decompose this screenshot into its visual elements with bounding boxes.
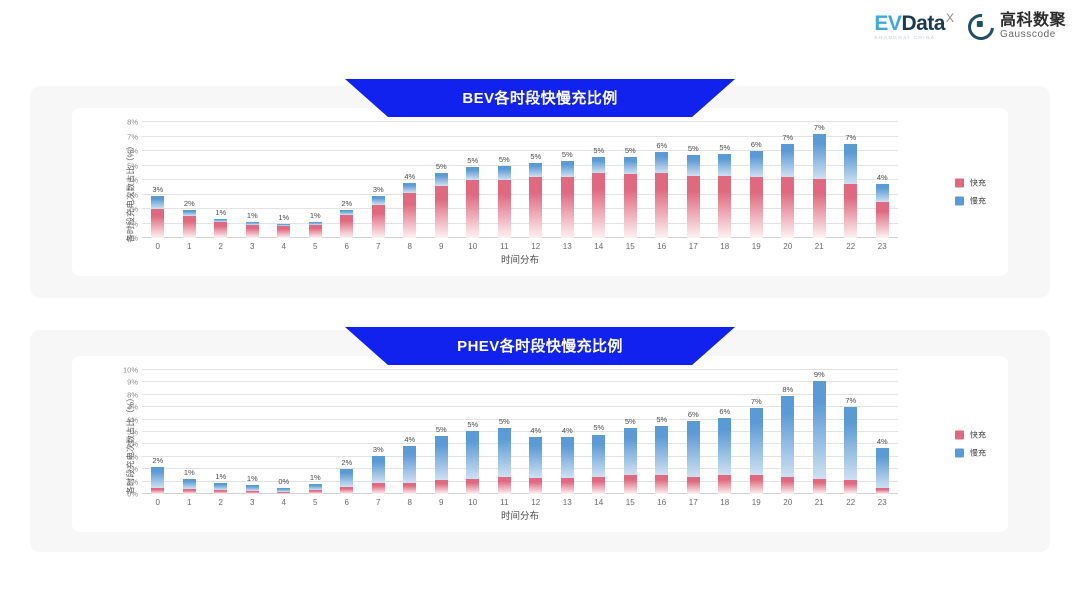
bev-x-tick: 1	[187, 242, 191, 251]
gausscode-chinese-name: 高科数聚	[1000, 13, 1066, 30]
phev-bar-segment-fast[interactable]	[844, 480, 857, 494]
bev-x-tick: 17	[689, 242, 698, 251]
bev-stacked-bar[interactable]: 5%18	[718, 154, 731, 238]
bev-bar-segment-slow[interactable]	[435, 173, 448, 186]
phev-bar-segment-slow[interactable]	[624, 428, 637, 475]
phev-bar-group[interactable]: 5%16	[646, 370, 678, 494]
phev-x-tick: 6	[345, 498, 349, 507]
bev-bar-segment-slow[interactable]	[750, 151, 763, 177]
phev-bar-segment-fast[interactable]	[435, 480, 448, 494]
bev-x-tick: 6	[345, 242, 349, 251]
phev-legend: 快充慢充	[955, 430, 986, 459]
phev-bar-segment-slow[interactable]	[781, 396, 794, 477]
bev-y-tick: 6%	[127, 147, 138, 156]
bev-bar-group[interactable]: 1%5	[300, 122, 332, 238]
phev-bar-group[interactable]: 5%9	[426, 370, 458, 494]
bev-bar-value-label: 7%	[782, 133, 793, 142]
phev-bar-value-label: 5%	[625, 417, 636, 426]
bev-stacked-bar[interactable]: 4%8	[403, 183, 416, 238]
bev-bar-segment-fast[interactable]	[277, 226, 290, 238]
bev-bar-value-label: 5%	[719, 143, 730, 152]
phev-legend-label: 慢充	[970, 448, 986, 459]
phev-legend-item[interactable]: 快充	[955, 430, 986, 441]
phev-bar-value-label: 2%	[341, 458, 352, 467]
phev-stacked-bar[interactable]: 3%7	[372, 456, 385, 494]
bev-bar-value-label: 5%	[688, 144, 699, 153]
bev-bar-group[interactable]: 5%18	[709, 122, 741, 238]
phev-bar-value-label: 3%	[373, 445, 384, 454]
phev-stacked-bar[interactable]: 1%2	[214, 483, 227, 494]
bev-plot-area: 0%1%2%3%4%5%6%7%8% 3%02%11%21%31%41%52%6…	[142, 122, 898, 238]
phev-bar-segment-fast[interactable]	[655, 475, 668, 494]
phev-bar-value-label: 1%	[310, 473, 321, 482]
bev-panel: 各时段充电次数占比（%） 0%1%2%3%4%5%6%7%8% 3%02%11%…	[30, 86, 1050, 298]
phev-bar-group[interactable]: 0%4	[268, 370, 300, 494]
evdata-x-mark: X	[946, 12, 954, 24]
bev-bar-group[interactable]: 4%23	[867, 122, 899, 238]
phev-stacked-bar[interactable]: 5%11	[498, 428, 511, 494]
bev-y-tick: 7%	[127, 132, 138, 141]
phev-bar-segment-slow[interactable]	[655, 426, 668, 476]
phev-stacked-bar[interactable]: 2%6	[340, 469, 353, 494]
page-header: EV Data X SHANGHAI CHINA 高科数聚 Gausscode	[0, 0, 1080, 62]
bev-bar-segment-slow[interactable]	[876, 184, 889, 201]
phev-bar-value-label: 6%	[719, 407, 730, 416]
phev-bar-segment-slow[interactable]	[844, 407, 857, 480]
phev-stacked-bar[interactable]: 1%1	[183, 479, 196, 495]
bev-legend: 快充慢充	[955, 178, 986, 207]
bev-bar-segment-fast[interactable]	[750, 177, 763, 238]
bev-bar-group[interactable]: 1%3	[237, 122, 269, 238]
bev-bar-segment-fast[interactable]	[403, 193, 416, 238]
bev-bar-group[interactable]: 6%16	[646, 122, 678, 238]
bev-x-tick: 14	[594, 242, 603, 251]
bev-bar-value-label: 5%	[499, 155, 510, 164]
bev-bar-segment-fast[interactable]	[246, 225, 259, 238]
bev-legend-item[interactable]: 快充	[955, 178, 986, 189]
bev-bar-group[interactable]: 3%0	[142, 122, 174, 238]
bev-stacked-bar[interactable]: 7%21	[813, 134, 826, 238]
bev-bar-segment-fast[interactable]	[592, 173, 605, 238]
bev-bar-group[interactable]: 5%12	[520, 122, 552, 238]
phev-bar-group[interactable]: 1%5	[300, 370, 332, 494]
phev-bar-segment-fast[interactable]	[813, 479, 826, 494]
phev-bar-group[interactable]: 1%2	[205, 370, 237, 494]
phev-bar-value-label: 2%	[152, 456, 163, 465]
phev-bar-group[interactable]: 2%0	[142, 370, 174, 494]
phev-bar-group[interactable]: 4%8	[394, 370, 426, 494]
phev-bar-segment-fast[interactable]	[876, 488, 889, 494]
phev-bar-group[interactable]: 7%22	[835, 370, 867, 494]
phev-bar-value-label: 5%	[656, 415, 667, 424]
bev-legend-swatch	[955, 197, 964, 206]
bev-bar-value-label: 1%	[278, 213, 289, 222]
phev-bar-segment-fast[interactable]	[183, 489, 196, 494]
phev-bar-segment-fast[interactable]	[781, 477, 794, 494]
bev-y-tick: 4%	[127, 176, 138, 185]
phev-legend-item[interactable]: 慢充	[955, 448, 986, 459]
bev-bar-segment-fast[interactable]	[529, 177, 542, 238]
bev-stacked-bar[interactable]: 5%17	[687, 155, 700, 238]
phev-x-tick: 19	[752, 498, 761, 507]
phev-stacked-bar[interactable]: 5%9	[435, 436, 448, 494]
gausscode-mark-icon	[963, 8, 1000, 45]
bev-bar-value-label: 5%	[625, 146, 636, 155]
bev-bar-group[interactable]: 2%1	[174, 122, 206, 238]
bev-bar-segment-slow[interactable]	[466, 167, 479, 180]
bev-stacked-bar[interactable]: 1%3	[246, 222, 259, 238]
bev-bar-group[interactable]: 5%13	[552, 122, 584, 238]
phev-bar-value-label: 5%	[436, 425, 447, 434]
phev-stacked-bar[interactable]: 8%20	[781, 396, 794, 494]
bev-bar-group[interactable]: 6%19	[741, 122, 773, 238]
phev-stacked-bar[interactable]: 2%0	[151, 467, 164, 494]
bev-bar-group[interactable]: 5%9	[426, 122, 458, 238]
phev-bar-segment-fast[interactable]	[498, 477, 511, 494]
phev-y-tick: 5%	[127, 428, 138, 437]
phev-y-tick: 6%	[127, 415, 138, 424]
phev-bar-segment-fast[interactable]	[561, 478, 574, 494]
phev-bar-value-label: 1%	[247, 474, 258, 483]
bev-bar-value-label: 5%	[530, 152, 541, 161]
bev-bar-segment-slow[interactable]	[529, 163, 542, 177]
phev-chart: 各时段充电次数占比（%） 0%1%2%3%4%5%6%7%8%9%10% 2%0…	[72, 356, 1008, 532]
bev-bar-value-label: 7%	[845, 133, 856, 142]
bev-stacked-bar[interactable]: 4%23	[876, 184, 889, 238]
phev-stacked-bar[interactable]: 5%14	[592, 434, 605, 494]
bev-bar-segment-fast[interactable]	[561, 177, 574, 238]
bev-title-text: BEV各时段快慢充比例	[462, 87, 617, 108]
evdata-subtitle: SHANGHAI CHINA	[874, 36, 935, 41]
phev-bar-group[interactable]: 2%6	[331, 370, 363, 494]
bev-x-tick: 19	[752, 242, 761, 251]
phev-bar-segment-slow[interactable]	[750, 408, 763, 475]
bev-card: 各时段充电次数占比（%） 0%1%2%3%4%5%6%7%8% 3%02%11%…	[72, 108, 1008, 276]
phev-plot-area: 0%1%2%3%4%5%6%7%8%9%10% 2%01%11%21%30%41…	[142, 370, 898, 494]
phev-stacked-bar[interactable]: 5%10	[466, 431, 479, 494]
phev-bar-segment-fast[interactable]	[340, 487, 353, 494]
bev-bar-group[interactable]: 7%22	[835, 122, 867, 238]
phev-bar-segment-fast[interactable]	[403, 483, 416, 494]
phev-bar-segment-fast[interactable]	[246, 491, 259, 494]
bev-bar-segment-fast[interactable]	[813, 179, 826, 238]
phev-bar-segment-slow[interactable]	[529, 437, 542, 478]
phev-bar-value-label: 9%	[814, 370, 825, 379]
bev-bar-segment-slow[interactable]	[718, 154, 731, 176]
bev-bar-group[interactable]: 3%7	[363, 122, 395, 238]
phev-x-tick: 15	[626, 498, 635, 507]
bev-bar-value-label: 4%	[404, 172, 415, 181]
bev-y-tick: 2%	[127, 205, 138, 214]
bev-bar-segment-slow[interactable]	[372, 196, 385, 205]
bev-bar-segment-fast[interactable]	[781, 177, 794, 238]
phev-stacked-bar[interactable]: 0%4	[277, 488, 290, 494]
phev-bar-segment-fast[interactable]	[309, 490, 322, 494]
phev-bar-group[interactable]: 5%14	[583, 370, 615, 494]
evdata-ev-text: EV	[874, 13, 901, 34]
bev-bar-group[interactable]: 5%15	[615, 122, 647, 238]
phev-bar-segment-fast[interactable]	[151, 488, 164, 494]
bev-bar-segment-slow[interactable]	[844, 144, 857, 185]
bev-stacked-bar[interactable]: 7%22	[844, 144, 857, 238]
phev-bar-group[interactable]: 1%3	[237, 370, 269, 494]
phev-stacked-bar[interactable]: 5%15	[624, 428, 637, 494]
phev-y-tick: 3%	[127, 452, 138, 461]
phev-bar-segment-fast[interactable]	[687, 477, 700, 494]
bev-stacked-bar[interactable]: 1%2	[214, 219, 227, 238]
phev-x-tick: 7	[376, 498, 380, 507]
bev-legend-label: 快充	[970, 178, 986, 189]
phev-bar-segment-slow[interactable]	[435, 436, 448, 481]
bev-bar-group[interactable]: 1%2	[205, 122, 237, 238]
phev-bar-value-label: 8%	[782, 385, 793, 394]
phev-bar-group[interactable]: 8%20	[772, 370, 804, 494]
phev-bar-segment-slow[interactable]	[561, 437, 574, 478]
bev-stacked-bar[interactable]: 5%15	[624, 157, 637, 238]
bev-y-tick: 5%	[127, 161, 138, 170]
bev-bar-value-label: 1%	[247, 211, 258, 220]
bev-bar-segment-fast[interactable]	[466, 180, 479, 238]
bev-bar-segment-fast[interactable]	[309, 225, 322, 238]
bev-bar-group[interactable]: 5%10	[457, 122, 489, 238]
bev-bar-segment-fast[interactable]	[876, 202, 889, 238]
phev-bar-group[interactable]: 6%17	[678, 370, 710, 494]
bev-y-tick: 8%	[127, 118, 138, 127]
bev-stacked-bar[interactable]: 5%10	[466, 167, 479, 238]
bev-stacked-bar[interactable]: 1%5	[309, 222, 322, 238]
phev-y-tick: 8%	[127, 390, 138, 399]
phev-x-tick: 0	[156, 498, 160, 507]
phev-bar-segment-slow[interactable]	[372, 456, 385, 483]
phev-x-tick: 21	[815, 498, 824, 507]
phev-bar-segment-fast[interactable]	[372, 483, 385, 494]
phev-stacked-bar[interactable]: 1%3	[246, 485, 259, 494]
phev-stacked-bar[interactable]: 9%21	[813, 381, 826, 494]
phev-x-tick: 11	[500, 498, 508, 507]
bev-bar-segment-fast[interactable]	[214, 222, 227, 238]
bev-bar-segment-fast[interactable]	[844, 184, 857, 238]
bev-chart: 各时段充电次数占比（%） 0%1%2%3%4%5%6%7%8% 3%02%11%…	[72, 108, 1008, 276]
bev-bar-group[interactable]: 7%21	[804, 122, 836, 238]
bev-stacked-bar[interactable]: 6%19	[750, 151, 763, 238]
bev-x-tick: 7	[376, 242, 380, 251]
phev-bar-segment-slow[interactable]	[718, 418, 731, 475]
phev-bar-segment-slow[interactable]	[687, 421, 700, 477]
phev-bar-group[interactable]: 4%13	[552, 370, 584, 494]
bev-bar-value-label: 6%	[656, 141, 667, 150]
bev-stacked-bar[interactable]: 5%14	[592, 157, 605, 238]
bev-bar-value-label: 2%	[341, 199, 352, 208]
phev-bar-segment-fast[interactable]	[214, 490, 227, 494]
bev-bar-segment-slow[interactable]	[561, 161, 574, 177]
bev-bar-segment-fast[interactable]	[498, 180, 511, 238]
bev-bar-value-label: 1%	[215, 208, 226, 217]
bev-bar-group[interactable]: 2%6	[331, 122, 363, 238]
phev-stacked-bar[interactable]: 4%13	[561, 437, 574, 494]
phev-bar-segment-slow[interactable]	[498, 428, 511, 476]
bev-stacked-bar[interactable]: 2%1	[183, 210, 196, 238]
phev-x-tick: 2	[219, 498, 223, 507]
phev-y-tick: 10%	[123, 366, 138, 375]
phev-bar-segment-slow[interactable]	[592, 435, 605, 477]
phev-bar-value-label: 7%	[845, 396, 856, 405]
phev-bar-value-label: 6%	[688, 410, 699, 419]
bev-bar-segment-slow[interactable]	[498, 166, 511, 181]
bev-bar-group[interactable]: 1%4	[268, 122, 300, 238]
phev-bar-segment-slow[interactable]	[466, 431, 479, 478]
phev-y-axis: 0%1%2%3%4%5%6%7%8%9%10%	[116, 370, 140, 494]
phev-stacked-bar[interactable]: 4%8	[403, 446, 416, 494]
phev-bar-segment-slow[interactable]	[403, 446, 416, 483]
phev-bar-group[interactable]: 1%1	[174, 370, 206, 494]
phev-bar-group[interactable]: 5%10	[457, 370, 489, 494]
bev-stacked-bar[interactable]: 5%11	[498, 166, 511, 239]
bev-stacked-bar[interactable]: 6%16	[655, 152, 668, 238]
bev-bar-segment-fast[interactable]	[687, 176, 700, 238]
phev-bar-value-label: 0%	[278, 477, 289, 486]
bev-bar-group[interactable]: 4%8	[394, 122, 426, 238]
phev-bar-segment-slow[interactable]	[151, 467, 164, 489]
bev-bar-group[interactable]: 5%14	[583, 122, 615, 238]
bev-bar-value-label: 5%	[593, 146, 604, 155]
evdata-wordmark: EV Data X	[874, 13, 954, 34]
bev-x-tick: 13	[563, 242, 572, 251]
phev-bar-segment-fast[interactable]	[718, 475, 731, 494]
phev-bar-segment-fast[interactable]	[750, 475, 763, 494]
phev-bar-segment-fast[interactable]	[624, 475, 637, 494]
phev-x-tick: 13	[563, 498, 572, 507]
phev-bar-segment-slow[interactable]	[183, 479, 196, 490]
phev-bar-group[interactable]: 4%23	[867, 370, 899, 494]
phev-bar-group[interactable]: 9%21	[804, 370, 836, 494]
bev-bar-segment-slow[interactable]	[403, 183, 416, 193]
bev-stacked-bar[interactable]: 2%6	[340, 210, 353, 238]
bev-stacked-bar[interactable]: 5%12	[529, 163, 542, 238]
phev-x-tick: 20	[783, 498, 792, 507]
gausscode-logo: 高科数聚 Gausscode	[968, 13, 1066, 40]
phev-title-banner: PHEV各时段快慢充比例	[345, 327, 735, 365]
bev-bar-value-label: 5%	[467, 156, 478, 165]
bev-stacked-bar[interactable]: 3%0	[151, 196, 164, 238]
bev-bar-segment-fast[interactable]	[624, 174, 637, 238]
phev-bar-segment-slow[interactable]	[340, 469, 353, 486]
phev-bar-group[interactable]: 6%18	[709, 370, 741, 494]
gausscode-wordmark: 高科数聚 Gausscode	[1000, 13, 1066, 40]
bev-bar-value-label: 3%	[152, 185, 163, 194]
bev-stacked-bar[interactable]: 5%13	[561, 161, 574, 238]
bev-bar-segment-fast[interactable]	[151, 209, 164, 238]
phev-bar-value-label: 4%	[877, 437, 888, 446]
phev-stacked-bar[interactable]: 4%23	[876, 448, 889, 494]
phev-x-tick: 10	[468, 498, 477, 507]
bev-bar-segment-fast[interactable]	[372, 205, 385, 238]
phev-bar-segment-fast[interactable]	[277, 492, 290, 494]
bev-bar-segment-fast[interactable]	[340, 215, 353, 238]
bev-bar-segment-slow[interactable]	[813, 134, 826, 179]
phev-bar-segment-slow[interactable]	[813, 381, 826, 479]
bev-bar-segment-slow[interactable]	[655, 152, 668, 172]
phev-stacked-bar[interactable]: 6%17	[687, 421, 700, 494]
phev-bar-group[interactable]: 5%15	[615, 370, 647, 494]
phev-x-tick: 23	[878, 498, 887, 507]
phev-legend-swatch	[955, 431, 964, 440]
bev-bar-segment-slow[interactable]	[592, 157, 605, 173]
bev-legend-item[interactable]: 慢充	[955, 196, 986, 207]
phev-bar-segment-fast[interactable]	[529, 478, 542, 494]
bev-bar-segment-fast[interactable]	[435, 186, 448, 238]
bev-x-tick: 0	[156, 242, 160, 251]
phev-x-tick: 1	[187, 498, 191, 507]
bev-bar-value-label: 6%	[751, 140, 762, 149]
bev-stacked-bar[interactable]: 1%4	[277, 224, 290, 239]
phev-bar-value-label: 5%	[499, 417, 510, 426]
phev-bar-segment-fast[interactable]	[592, 477, 605, 494]
bev-stacked-bar[interactable]: 7%20	[781, 144, 794, 238]
phev-bar-segment-slow[interactable]	[214, 483, 227, 490]
bev-bar-segment-fast[interactable]	[655, 173, 668, 238]
bev-title-banner: BEV各时段快慢充比例	[345, 79, 735, 117]
bev-bar-segment-fast[interactable]	[718, 176, 731, 238]
bev-x-tick: 16	[657, 242, 666, 251]
phev-bar-group[interactable]: 3%7	[363, 370, 395, 494]
phev-x-tick: 9	[439, 498, 443, 507]
phev-y-tick: 1%	[127, 477, 138, 486]
bev-stacked-bar[interactable]: 3%7	[372, 196, 385, 238]
bev-bar-group[interactable]: 5%17	[678, 122, 710, 238]
bev-bar-value-label: 5%	[436, 162, 447, 171]
phev-stacked-bar[interactable]: 4%12	[529, 437, 542, 494]
phev-x-tick: 14	[594, 498, 603, 507]
logo-group: EV Data X SHANGHAI CHINA 高科数聚 Gausscode	[874, 13, 1066, 41]
bev-x-tick: 22	[846, 242, 855, 251]
bev-legend-swatch	[955, 179, 964, 188]
bev-bar-segment-fast[interactable]	[183, 216, 196, 238]
bev-x-tick: 12	[531, 242, 540, 251]
phev-bar-value-label: 1%	[215, 472, 226, 481]
phev-x-tick: 4	[282, 498, 286, 507]
bev-bar-value-label: 2%	[184, 199, 195, 208]
bev-y-tick: 3%	[127, 190, 138, 199]
phev-bar-value-label: 4%	[562, 426, 573, 435]
phev-stacked-bar[interactable]: 5%16	[655, 426, 668, 494]
bev-bar-segment-slow[interactable]	[781, 144, 794, 177]
bev-bar-segment-slow[interactable]	[624, 157, 637, 174]
phev-bar-group[interactable]: 5%11	[489, 370, 521, 494]
phev-y-tick: 9%	[127, 378, 138, 387]
phev-x-tick: 3	[250, 498, 254, 507]
bev-bar-group[interactable]: 7%20	[772, 122, 804, 238]
phev-bar-segment-fast[interactable]	[466, 479, 479, 494]
phev-bar-group[interactable]: 7%19	[741, 370, 773, 494]
evdata-data-text: Data	[901, 13, 945, 34]
phev-bar-group[interactable]: 4%12	[520, 370, 552, 494]
phev-x-tick: 5	[313, 498, 317, 507]
bev-bar-segment-slow[interactable]	[151, 196, 164, 209]
bev-bar-value-label: 5%	[562, 150, 573, 159]
phev-legend-label: 快充	[970, 430, 986, 441]
bev-bar-segment-slow[interactable]	[687, 155, 700, 175]
bev-bar-group[interactable]: 5%11	[489, 122, 521, 238]
phev-bar-segment-slow[interactable]	[876, 448, 889, 488]
phev-stacked-bar[interactable]: 7%22	[844, 407, 857, 494]
phev-stacked-bar[interactable]: 1%5	[309, 484, 322, 494]
phev-stacked-bar[interactable]: 7%19	[750, 408, 763, 494]
bev-x-tick: 15	[626, 242, 635, 251]
phev-stacked-bar[interactable]: 6%18	[718, 418, 731, 494]
phev-bars: 2%01%11%21%30%41%52%63%74%85%95%105%114%…	[142, 370, 898, 494]
bev-stacked-bar[interactable]: 5%9	[435, 173, 448, 238]
bev-legend-label: 慢充	[970, 196, 986, 207]
